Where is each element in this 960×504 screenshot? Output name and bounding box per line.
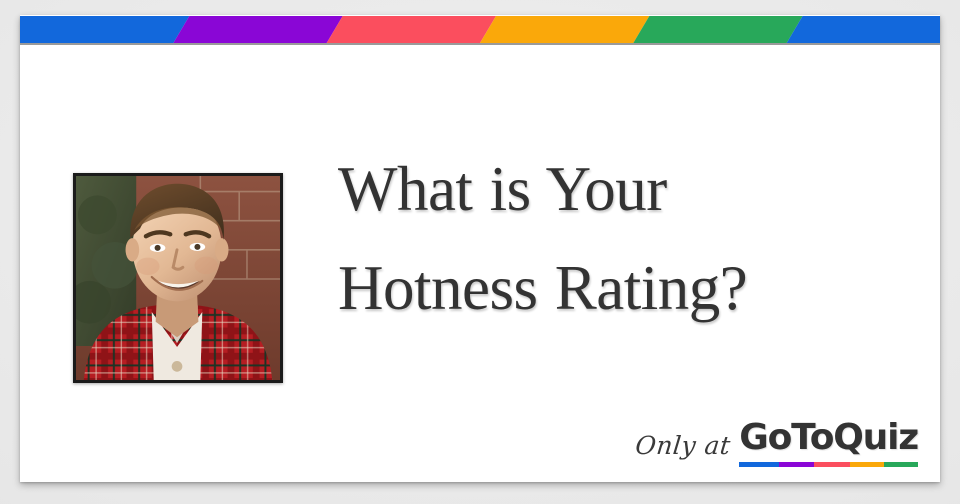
page-title-line-2: Hotness Rating? <box>338 239 908 338</box>
stripe-bar-svg <box>20 16 940 43</box>
photo-illustration <box>76 176 280 380</box>
stripe-blue-0 <box>20 16 189 43</box>
stripe-orange-3 <box>480 16 649 43</box>
rainbow-stripe-bar <box>20 16 940 43</box>
underline-segment-red <box>814 462 850 467</box>
brand-underline <box>739 462 918 467</box>
stripe-blue-5 <box>787 16 940 43</box>
brand-name: GoToQuiz <box>739 420 918 456</box>
underline-segment-green <box>884 462 918 467</box>
stripe-red-2 <box>327 16 496 43</box>
only-at-label: Only at <box>633 433 732 467</box>
page-title: What is Your Hotness Rating? <box>338 140 908 338</box>
stripe-green-4 <box>633 16 802 43</box>
page-title-line-1: What is Your <box>338 140 908 239</box>
stripe-purple-1 <box>173 16 342 43</box>
underline-segment-purple <box>779 462 815 467</box>
underline-segment-orange <box>850 462 884 467</box>
quiz-card: What is Your Hotness Rating? Only at GoT… <box>20 15 940 482</box>
card-body: What is Your Hotness Rating? Only at GoT… <box>20 45 940 482</box>
gotoquiz-logo[interactable]: GoToQuiz <box>739 420 918 467</box>
brand-block[interactable]: Only at GoToQuiz <box>635 420 918 467</box>
underline-segment-blue <box>739 462 778 467</box>
quiz-photo <box>73 173 283 383</box>
